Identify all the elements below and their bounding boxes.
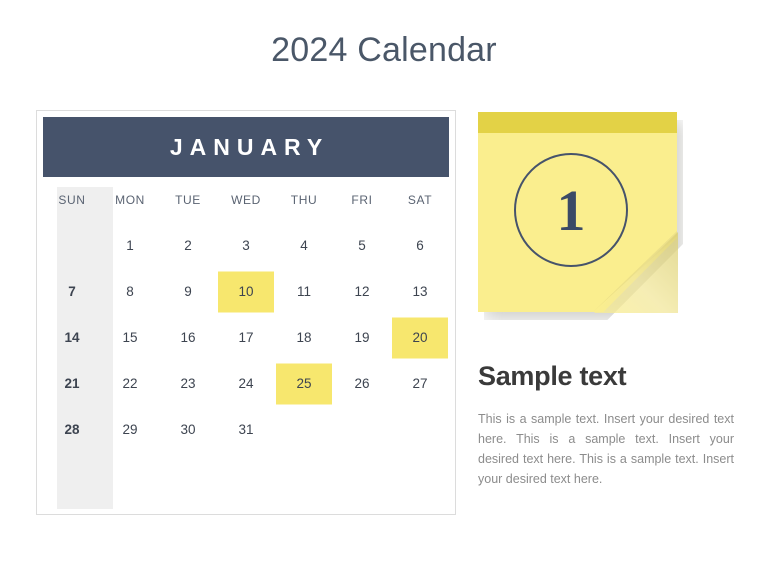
calendar-day-number: 29 <box>122 423 137 437</box>
calendar-week-row: 123456 <box>43 223 449 269</box>
calendar-empty-cell <box>43 453 101 499</box>
dow-tue: TUE <box>159 177 217 223</box>
calendar-day-cell[interactable]: 9 <box>159 269 217 315</box>
calendar-day-number: 13 <box>412 285 427 299</box>
calendar-day-cell[interactable]: 7 <box>43 269 101 315</box>
calendar-week-row: 21222324252627 <box>43 361 449 407</box>
calendar-day-number: 16 <box>180 331 195 345</box>
calendar-day-number: 5 <box>358 239 366 253</box>
calendar-day-number: 25 <box>296 377 311 391</box>
calendar-empty-cell <box>333 453 391 499</box>
page-title: 2024 Calendar <box>0 28 768 72</box>
calendar-day-number: 24 <box>238 377 253 391</box>
calendar-day-cell[interactable]: 3 <box>217 223 275 269</box>
calendar-day-cell[interactable]: 1 <box>101 223 159 269</box>
calendar-day-cell[interactable]: 27 <box>391 361 449 407</box>
calendar-day-number: 30 <box>180 423 195 437</box>
sticky-note-top-strip <box>478 112 677 133</box>
day-circle-icon: 1 <box>514 153 628 267</box>
calendar-day-number: 19 <box>354 331 369 345</box>
calendar-empty-cell <box>275 407 333 453</box>
calendar-day-number: 11 <box>297 285 311 299</box>
calendar-day-cell[interactable]: 25 <box>275 361 333 407</box>
dow-sun: SUN <box>43 177 101 223</box>
calendar-day-number: 20 <box>412 331 427 345</box>
dow-fri: FRI <box>333 177 391 223</box>
calendar-day-cell[interactable]: 23 <box>159 361 217 407</box>
calendar-day-number: 18 <box>296 331 311 345</box>
calendar-day-cell[interactable]: 22 <box>101 361 159 407</box>
calendar-day-cell[interactable]: 31 <box>217 407 275 453</box>
calendar-card: JANUARY SUN MON TUE WED THU FRI SAT 1234… <box>36 110 456 515</box>
calendar-day-cell[interactable]: 13 <box>391 269 449 315</box>
calendar-day-cell[interactable]: 18 <box>275 315 333 361</box>
sticky-note[interactable]: 1 <box>478 112 683 320</box>
calendar-day-number: 10 <box>238 285 253 299</box>
calendar-day-cell[interactable]: 6 <box>391 223 449 269</box>
calendar-day-cell[interactable]: 20 <box>391 315 449 361</box>
calendar-day-number: 21 <box>64 377 79 391</box>
calendar-day-number: 15 <box>122 331 137 345</box>
calendar-weeks: 1234567891011121314151617181920212223242… <box>43 223 449 499</box>
calendar-day-number: 8 <box>126 285 134 299</box>
calendar-day-number: 7 <box>68 285 76 299</box>
calendar-day-number: 9 <box>184 285 192 299</box>
calendar-day-cell[interactable]: 26 <box>333 361 391 407</box>
calendar-day-cell[interactable]: 4 <box>275 223 333 269</box>
dow-sat: SAT <box>391 177 449 223</box>
calendar-empty-cell <box>391 453 449 499</box>
calendar-day-cell[interactable]: 16 <box>159 315 217 361</box>
calendar-day-number: 4 <box>300 239 308 253</box>
calendar-day-cell[interactable]: 14 <box>43 315 101 361</box>
calendar-day-cell[interactable]: 2 <box>159 223 217 269</box>
calendar-day-cell[interactable]: 12 <box>333 269 391 315</box>
calendar-day-number: 12 <box>354 285 369 299</box>
calendar-day-cell[interactable]: 24 <box>217 361 275 407</box>
calendar-day-cell[interactable]: 8 <box>101 269 159 315</box>
calendar-empty-cell <box>101 453 159 499</box>
calendar-day-number: 17 <box>238 331 253 345</box>
calendar-day-number: 3 <box>242 239 250 253</box>
calendar-day-number: 28 <box>64 423 79 437</box>
calendar-day-cell[interactable]: 10 <box>217 269 275 315</box>
calendar-day-number: 26 <box>354 377 369 391</box>
calendar-empty-cell <box>159 453 217 499</box>
calendar-day-number: 6 <box>416 239 424 253</box>
dow-thu: THU <box>275 177 333 223</box>
calendar-empty-cell <box>217 453 275 499</box>
calendar-day-cell[interactable]: 17 <box>217 315 275 361</box>
calendar-empty-cell <box>275 453 333 499</box>
sample-body: This is a sample text. Insert your desir… <box>478 409 734 489</box>
calendar-day-number: 14 <box>64 331 79 345</box>
calendar-day-cell[interactable]: 5 <box>333 223 391 269</box>
calendar-grid: SUN MON TUE WED THU FRI SAT 123456789101… <box>43 177 449 499</box>
calendar-day-cell[interactable]: 29 <box>101 407 159 453</box>
note-day-number: 1 <box>557 182 586 240</box>
calendar-week-row <box>43 453 449 499</box>
month-header-label: JANUARY <box>163 134 329 161</box>
calendar-day-cell[interactable]: 19 <box>333 315 391 361</box>
calendar-day-number: 1 <box>126 239 134 253</box>
calendar-day-cell[interactable]: 30 <box>159 407 217 453</box>
calendar-week-row: 14151617181920 <box>43 315 449 361</box>
dow-mon: MON <box>101 177 159 223</box>
month-header: JANUARY <box>43 117 449 177</box>
calendar-day-cell[interactable]: 21 <box>43 361 101 407</box>
calendar-week-row: 78910111213 <box>43 269 449 315</box>
text-block: Sample text This is a sample text. Inser… <box>478 362 734 489</box>
calendar-empty-cell <box>391 407 449 453</box>
calendar-week-row: 28293031 <box>43 407 449 453</box>
calendar-day-number: 31 <box>238 423 253 437</box>
calendar-day-cell[interactable]: 11 <box>275 269 333 315</box>
calendar-day-number: 22 <box>122 377 137 391</box>
sample-heading: Sample text <box>478 362 734 392</box>
calendar-empty-cell <box>43 223 101 269</box>
calendar-day-number: 23 <box>180 377 195 391</box>
calendar-day-number: 2 <box>184 239 192 253</box>
calendar-day-cell[interactable]: 28 <box>43 407 101 453</box>
day-of-week-header-row: SUN MON TUE WED THU FRI SAT <box>43 177 449 223</box>
calendar-empty-cell <box>333 407 391 453</box>
dow-wed: WED <box>217 177 275 223</box>
calendar-day-cell[interactable]: 15 <box>101 315 159 361</box>
calendar-day-number: 27 <box>412 377 427 391</box>
